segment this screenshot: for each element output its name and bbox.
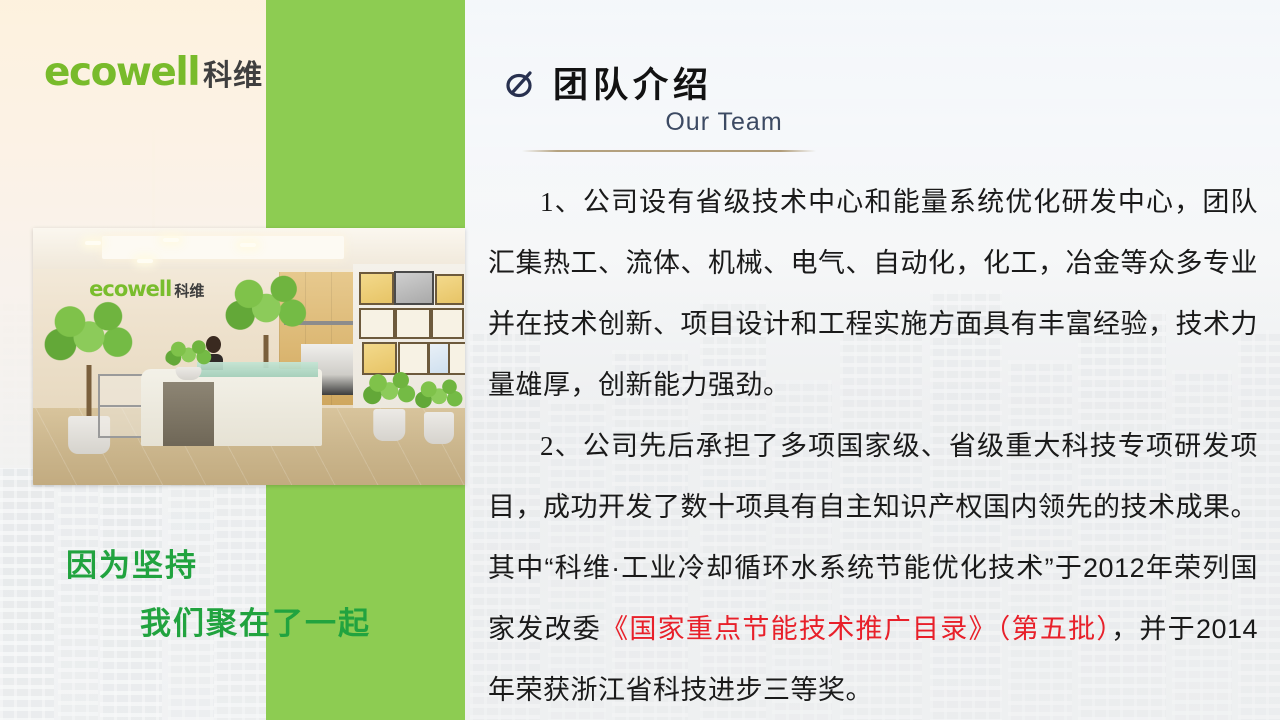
- title-divider: [522, 150, 816, 152]
- photo-ceiling-light: [163, 238, 179, 242]
- photo-certificate: [394, 271, 434, 306]
- photo-ceiling-light: [137, 259, 153, 263]
- photo-certificate: [448, 342, 465, 375]
- body-text: 1、公司设有省级技术中心和能量系统优化研发中心，团队汇集热工、流体、机械、电气、…: [488, 172, 1258, 720]
- slogan-line-1: 因为坚持: [66, 540, 198, 585]
- page-title: 团队介绍: [553, 57, 713, 108]
- photo-certificate: [359, 272, 393, 305]
- photo-plant-desk: [163, 339, 215, 380]
- photo-certificate: [431, 308, 464, 339]
- office-reception-photo: ecowell 科维: [33, 228, 465, 485]
- section-title-row: 团队介绍: [503, 57, 713, 108]
- photo-plant-right-2: [413, 377, 465, 444]
- slashed-circle-icon: [503, 66, 537, 100]
- photo-ceiling-inset: [102, 236, 344, 259]
- slogan-line-2: 我们聚在了一起: [140, 598, 371, 643]
- photo-certificate: [359, 308, 394, 339]
- paragraph-1: 1、公司设有省级技术中心和能量系统优化研发中心，团队汇集热工、流体、机械、电气、…: [488, 172, 1258, 416]
- paragraph-2-highlight: 《国家重点节能技术推广目录》（第五批）: [601, 614, 1111, 644]
- paragraph-2-marker: 2、: [540, 431, 583, 461]
- company-logo: ecowell 科维: [44, 50, 263, 95]
- photo-certificate: [395, 308, 430, 339]
- paragraph-1-marker: 1、: [540, 187, 583, 217]
- logo-text-en: ecowell: [44, 50, 199, 95]
- photo-desk-glass: [197, 362, 318, 377]
- photo-ceiling-light: [240, 243, 256, 247]
- photo-certificate: [428, 342, 450, 375]
- page-subtitle: Our Team: [569, 108, 879, 137]
- paragraph-1-text: 公司设有省级技术中心和能量系统优化研发中心，团队汇集热工、流体、机械、电气、自动…: [488, 187, 1258, 400]
- photo-plant-right-1: [361, 369, 417, 441]
- photo-wall-logo-cn: 科维: [174, 280, 204, 301]
- slide-root: ecowell 科维 ecowell 科维: [0, 0, 1280, 720]
- content-panel: 团队介绍 Our Team 1、公司设有省级技术中心和能量系统优化研发中心，团队…: [465, 0, 1280, 720]
- paragraph-2-text-before: 公司先后承担了多项国家级、省级重大科技专项研发项目，成功开发了数十项具有自主知识…: [488, 431, 1258, 644]
- photo-ceiling-light: [85, 241, 101, 245]
- logo-text-cn: 科维: [203, 52, 263, 94]
- photo-certificate: [435, 274, 465, 305]
- paragraph-2: 2、公司先后承担了多项国家级、省级重大科技专项研发项目，成功开发了数十项具有自主…: [488, 416, 1258, 720]
- photo-desk-panel: [163, 382, 215, 446]
